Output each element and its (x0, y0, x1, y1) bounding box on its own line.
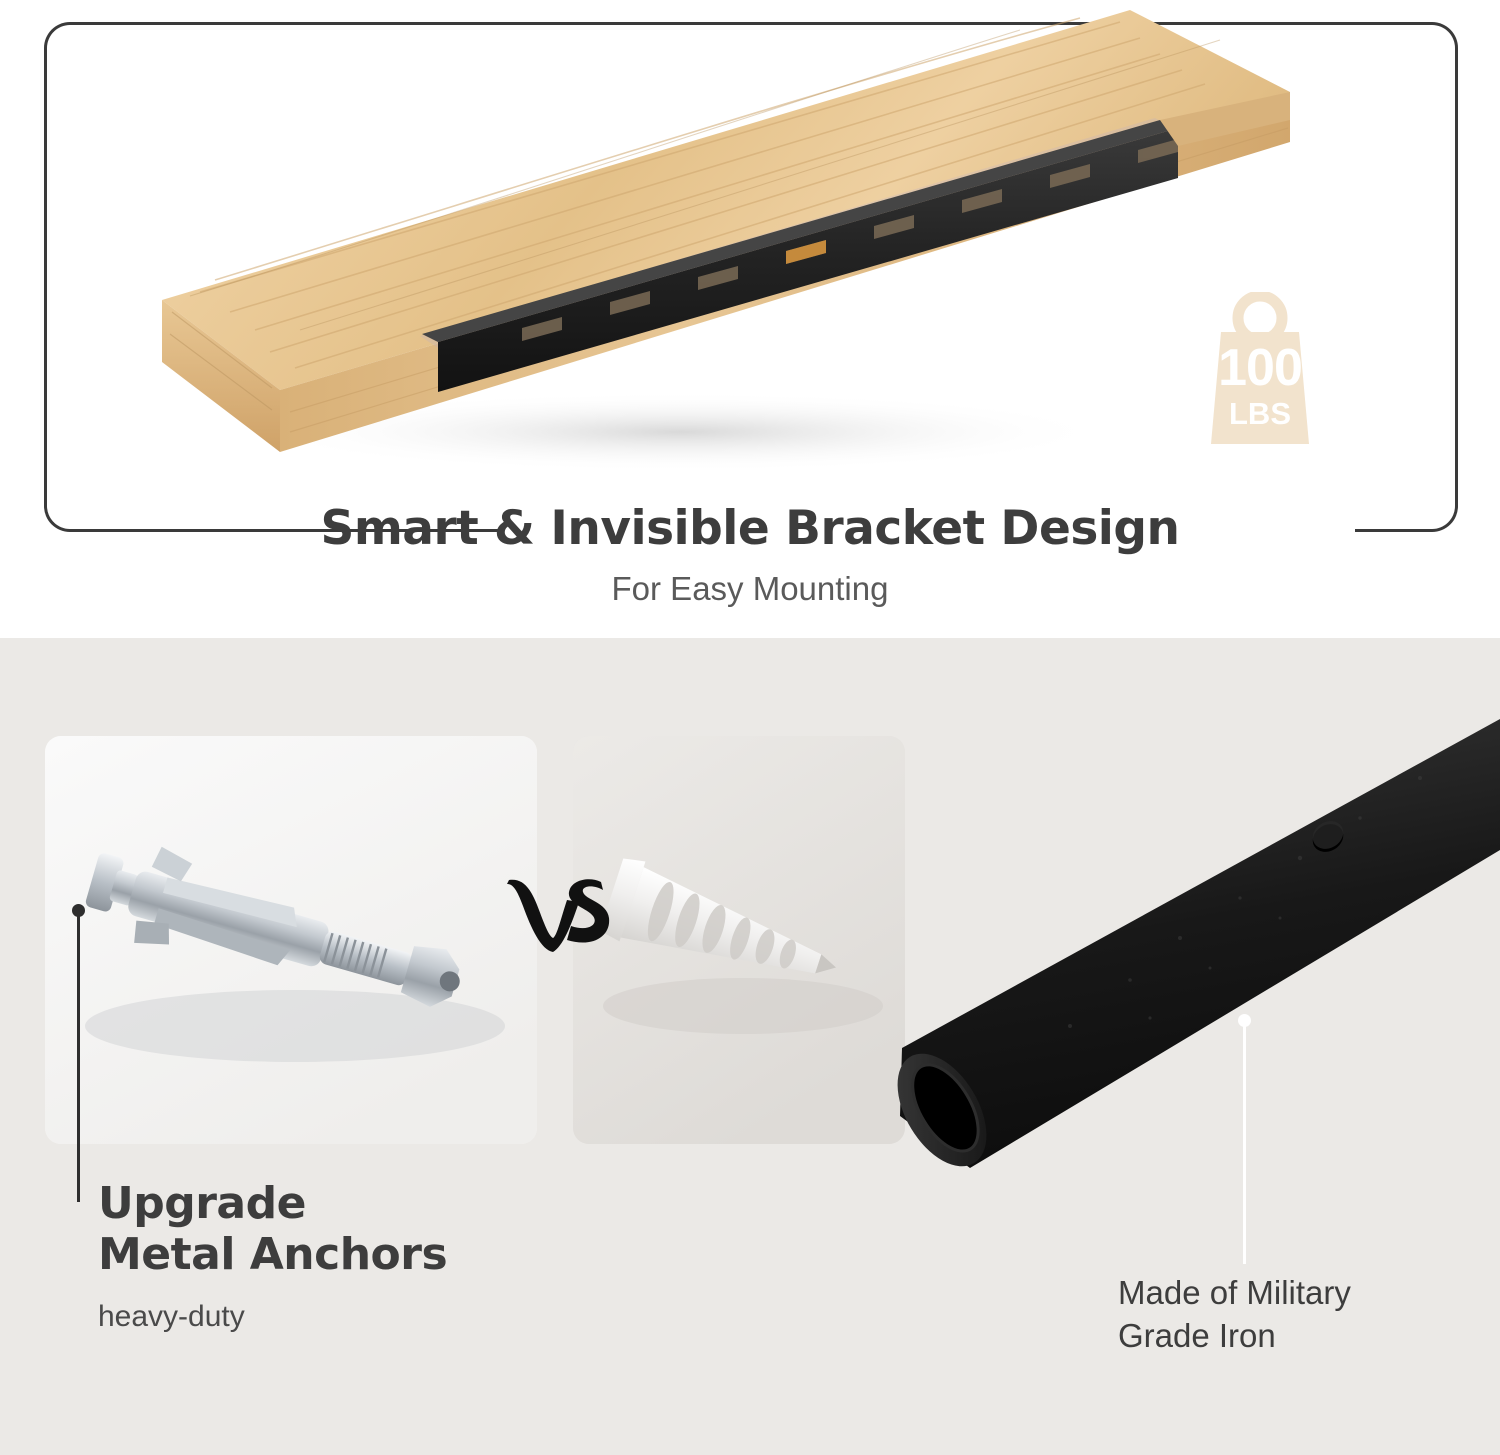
iron-rod-caption-line2: Grade Iron (1118, 1315, 1478, 1358)
features-panel: Upgrade Metal Anchors heavy-duty (0, 638, 1500, 1455)
metal-anchor-caption-line2: Metal Anchors (98, 1229, 618, 1280)
metal-anchor-card (45, 736, 537, 1144)
iron-rod-caption: Made of Military Grade Iron (1118, 1272, 1478, 1358)
floating-shelf-image (120, 0, 1360, 500)
hero-title: Smart & Invisible Bracket Design (0, 501, 1500, 556)
metal-anchor-caption: Upgrade Metal Anchors heavy-duty (98, 1178, 618, 1334)
product-infographic: 100 LBS Smart & Invisible Bracket Design… (0, 0, 1500, 1455)
metal-anchor-caption-line1: Upgrade (98, 1178, 618, 1229)
hero-subtitle: For Easy Mounting (0, 570, 1500, 608)
weight-capacity-badge: 100 LBS (1185, 292, 1335, 452)
iron-rod-image (880, 718, 1500, 1188)
metal-anchor-callout-line (77, 910, 80, 1202)
plastic-anchor-card (573, 736, 905, 1144)
iron-rod-caption-line1: Made of Military (1118, 1272, 1478, 1315)
metal-anchor-caption-sub: heavy-duty (98, 1300, 618, 1334)
hero-panel: 100 LBS Smart & Invisible Bracket Design… (0, 0, 1500, 638)
versus-label (505, 866, 615, 956)
iron-rod-callout-line-white (1243, 1024, 1246, 1264)
frame-border-right (1374, 22, 1458, 532)
